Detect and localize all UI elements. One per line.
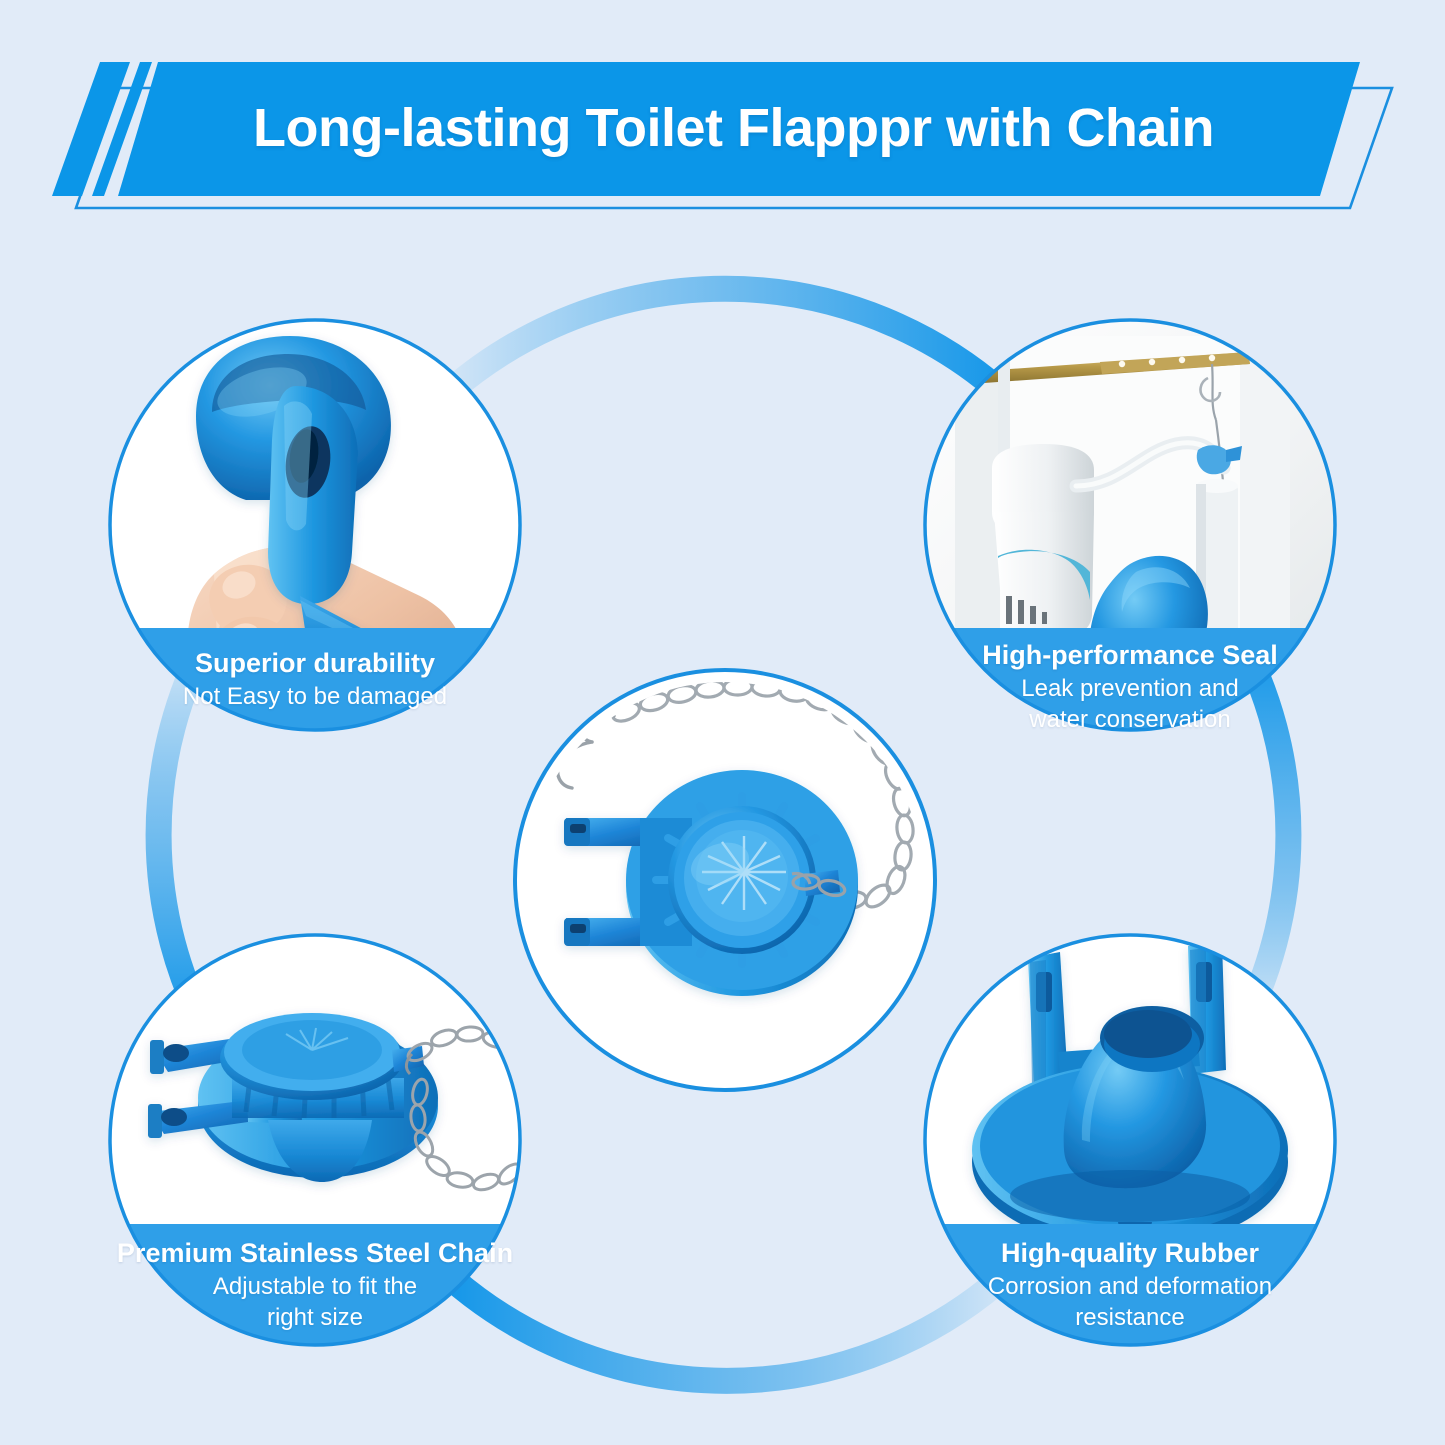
- header: Long-lasting Toilet Flapppr with Chain: [0, 0, 1445, 250]
- feature-circle-premium-stainless-steel-chain[interactable]: [110, 935, 549, 1349]
- feature-circle-high-quality-rubber[interactable]: [925, 935, 1335, 1349]
- connector-arc-top: [420, 289, 1030, 420]
- page-title: Long-lasting Toilet Flapppr with Chain: [0, 60, 1445, 195]
- center-product-circle[interactable]: [513, 668, 937, 1092]
- feature-circle-high-performance-seal[interactable]: [925, 320, 1335, 738]
- infographic-canvas: Long-lasting Toilet Flapppr with Chain S…: [0, 0, 1445, 1445]
- connector-arc-bottom: [420, 1248, 1033, 1381]
